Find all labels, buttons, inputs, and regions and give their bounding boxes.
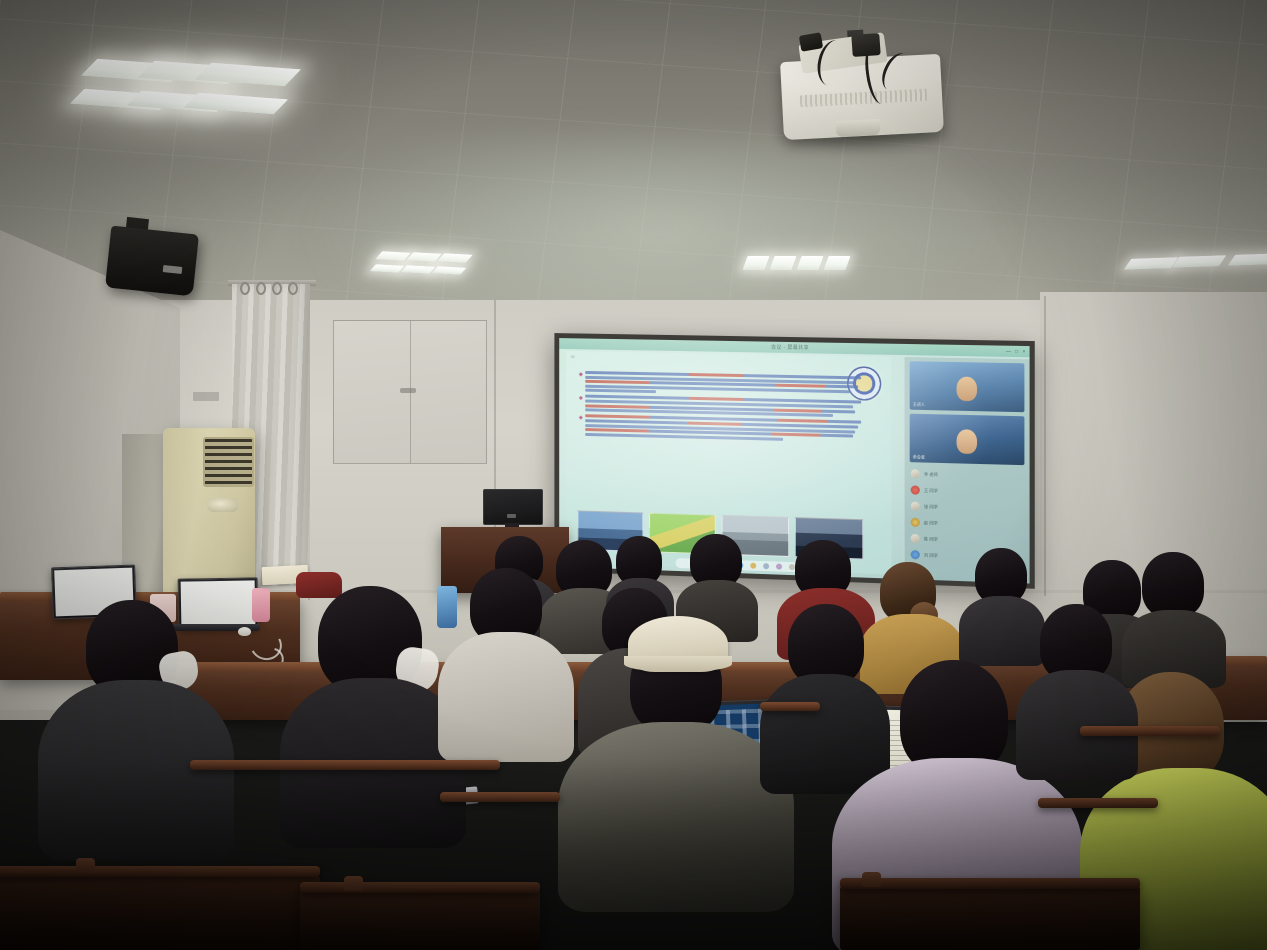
bench-end-knob xyxy=(862,872,881,887)
ac-brand-badge xyxy=(207,498,239,512)
light-panel xyxy=(1172,255,1227,268)
bullet-marker-icon xyxy=(579,396,583,400)
participant-row[interactable]: 王 同学 xyxy=(911,485,1024,497)
avatar xyxy=(957,429,977,454)
computer-mouse xyxy=(238,627,251,636)
ac-vent-grille xyxy=(203,437,254,487)
cap-brim xyxy=(624,656,732,672)
avatar xyxy=(911,469,920,478)
bench-front-center xyxy=(300,890,540,950)
curtain-ring xyxy=(256,282,266,295)
curtain-ring xyxy=(240,282,250,295)
bench-front-right xyxy=(840,886,1140,950)
classroom-photo: 会议 - 屏幕共享 — □ × 01 xyxy=(0,0,1267,950)
slide-bullet xyxy=(579,414,861,444)
wall-speaker xyxy=(105,226,199,297)
avatar xyxy=(911,485,920,494)
close-icon[interactable]: × xyxy=(1022,349,1025,355)
minimize-icon[interactable]: — xyxy=(1006,349,1011,355)
bullet-text-block xyxy=(585,415,861,444)
participant-row[interactable]: 陈 同学 xyxy=(911,534,1024,547)
bullet-marker-icon xyxy=(579,416,583,420)
bench-rail-mid xyxy=(1038,798,1158,808)
slide-number: 01 xyxy=(571,354,575,359)
torso xyxy=(959,596,1045,666)
laptop-left-second xyxy=(178,577,259,628)
bench-rail xyxy=(300,882,540,893)
share-icon[interactable] xyxy=(750,563,756,569)
bullet-marker-icon xyxy=(579,372,583,376)
wall-seam xyxy=(1044,296,1046,596)
video-tile-2[interactable]: 参会者 xyxy=(910,414,1025,465)
light-panel xyxy=(432,266,467,275)
avatar xyxy=(911,502,920,511)
participant-name: 张 同学 xyxy=(924,503,938,509)
participant-row[interactable]: 赵 同学 xyxy=(911,518,1024,531)
bench-front-left xyxy=(0,876,320,950)
slide-bullet-list xyxy=(579,371,861,446)
podium-monitor xyxy=(483,489,543,525)
pink-water-bottle xyxy=(252,588,270,622)
avatar xyxy=(911,534,920,543)
bench-rail-mid xyxy=(440,792,560,802)
participant-row[interactable]: 张 同学 xyxy=(911,502,1024,514)
participant-name: 王 同学 xyxy=(924,487,938,493)
torso xyxy=(558,722,794,912)
participant-name: 陈 同学 xyxy=(924,536,938,543)
shared-window-title: 会议 - 屏幕共享 xyxy=(771,344,809,352)
participant-name: 赵 同学 xyxy=(924,520,938,527)
wall-sign xyxy=(193,392,219,401)
light-panel xyxy=(1124,257,1179,270)
avatar xyxy=(911,518,920,527)
bench-rail-mid xyxy=(190,760,500,770)
avatar xyxy=(957,377,977,402)
maximize-icon[interactable]: □ xyxy=(1015,349,1018,355)
projector-camera-block xyxy=(851,33,880,57)
bench-rail-mid xyxy=(760,702,820,711)
head xyxy=(1142,552,1204,618)
participant-row[interactable]: 李 老师 xyxy=(911,469,1024,481)
bench-end-knob xyxy=(76,858,95,873)
curtain-ring xyxy=(288,282,298,295)
window-controls[interactable]: — □ × xyxy=(1006,349,1026,355)
projector-lens xyxy=(836,119,881,137)
blue-water-bottle xyxy=(437,586,457,628)
torso xyxy=(1016,670,1138,780)
torso xyxy=(38,680,234,860)
bench-rail xyxy=(0,866,320,877)
light-panel xyxy=(1228,253,1267,266)
participant-name: 李 老师 xyxy=(924,471,938,477)
bench-end-knob xyxy=(344,876,363,891)
more-icon[interactable] xyxy=(789,564,795,570)
participant-name: 刘 同学 xyxy=(924,552,938,559)
torso xyxy=(760,674,890,794)
light-panel xyxy=(401,265,436,274)
cabinet-handle xyxy=(400,388,416,393)
video-tile-name: 参会者 xyxy=(913,454,925,460)
laptop-screen xyxy=(181,580,256,625)
bench-rail-mid xyxy=(1080,726,1220,736)
chat-icon[interactable] xyxy=(763,563,769,569)
light-panel xyxy=(370,264,405,273)
red-cloth xyxy=(296,572,342,598)
members-icon[interactable] xyxy=(776,563,782,569)
curtain-ring xyxy=(272,282,282,295)
video-tile-name: 主讲人 xyxy=(913,402,925,408)
monitor-brand-logo xyxy=(507,514,516,518)
video-tile-1[interactable]: 主讲人 xyxy=(910,361,1025,412)
avatar xyxy=(911,550,920,559)
torso xyxy=(438,632,574,762)
bench-rail xyxy=(840,878,1140,889)
